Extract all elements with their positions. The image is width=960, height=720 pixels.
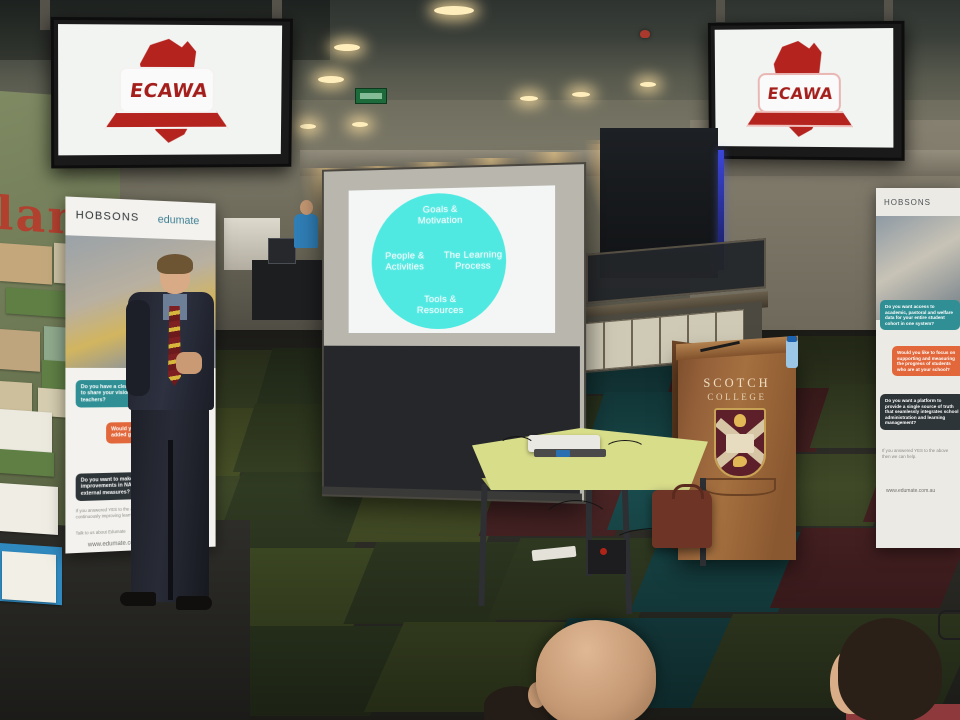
- laptop-screen-shape: ECAWA: [758, 73, 841, 113]
- crest-lion-icon: [734, 414, 746, 427]
- cable: [604, 440, 646, 460]
- conference-room-photo: lan ECAWA: [0, 0, 960, 720]
- fire-sprinkler-icon: [640, 30, 650, 38]
- equipment-box: [588, 540, 626, 574]
- ecawa-logo-left: ECAWA: [58, 24, 282, 155]
- tv-mount-left: [40, 0, 50, 30]
- slide-label-line1: Goals &: [423, 204, 458, 216]
- board-poster: [6, 287, 68, 317]
- speaker-hair: [157, 254, 193, 274]
- background-person-body: [294, 214, 318, 248]
- ceiling-downlight: [520, 96, 538, 101]
- ceiling-downlight: [572, 92, 590, 97]
- board-poster: [0, 243, 52, 285]
- ceiling-downlight: [318, 76, 344, 83]
- slide-label-line1: Tools &: [424, 294, 456, 305]
- crest-book-icon: [726, 434, 754, 453]
- ecawa-wordmark: ECAWA: [128, 80, 209, 102]
- board-poster: [0, 329, 40, 372]
- laptop-base-shape: [105, 111, 229, 129]
- draped-table: [252, 260, 326, 320]
- briefcase-handle: [672, 484, 704, 499]
- speaker-shoe: [120, 592, 156, 606]
- glasses-icon: [938, 610, 960, 640]
- slide-label-line2: Activities: [386, 261, 425, 272]
- tv-left-screen: ECAWA: [58, 24, 282, 155]
- tv-right: ECAWA: [708, 21, 905, 161]
- school-crest: [714, 408, 766, 478]
- banner-fine-print-right: If you answered YES to the above then we…: [882, 448, 954, 460]
- board-poster: [2, 551, 56, 603]
- projector-connector-panel: [534, 449, 606, 457]
- slide-label-line1: People &: [385, 250, 424, 261]
- board-poster: [0, 449, 54, 477]
- tv-right-screen: ECAWA: [715, 28, 894, 148]
- cabinet-door[interactable]: [632, 317, 660, 367]
- laptop-base-shape: [746, 111, 853, 127]
- audience-head-right: [838, 618, 942, 720]
- slide-label-line2: Motivation: [418, 215, 463, 227]
- laptop: [268, 238, 296, 264]
- ceiling-downlight: [352, 122, 368, 127]
- edumate-logo-left: edumate: [158, 214, 199, 228]
- banner-url-right: www.edumate.com.au: [886, 488, 956, 494]
- ceiling-downlight: [300, 124, 316, 129]
- slide-label-left: People & Activities: [378, 250, 433, 273]
- cable: [498, 436, 536, 460]
- banner-chip-dark: Do you want a platform to provide a sing…: [880, 394, 960, 430]
- banner-chip-orange: Would you like to focus on supporting an…: [892, 346, 960, 376]
- ceiling-downlight: [434, 6, 474, 15]
- slide-label-line2: Process: [455, 260, 491, 271]
- ecawa-wordmark: ECAWA: [766, 84, 834, 103]
- slide-area: Goals & Motivation People & Activities T…: [349, 185, 555, 333]
- background-person-head: [300, 200, 313, 215]
- power-led-icon: [600, 548, 607, 555]
- slide-label-right: The Learning Process: [442, 249, 504, 272]
- slide-label-bottom: Tools & Resources: [409, 294, 472, 316]
- speaker-arm: [126, 300, 150, 396]
- crest-ribbon: [704, 478, 776, 496]
- podium-subtitle: COLLEGE: [678, 392, 796, 402]
- slide-label-line2: Resources: [417, 305, 464, 316]
- banner-hobsons-edumate-right: HOBSONS Do you want access to academic, …: [876, 188, 960, 548]
- board-poster: [0, 483, 58, 535]
- laptop-screen-shape: ECAWA: [119, 67, 215, 113]
- speaker-hand: [176, 352, 202, 374]
- slide-label-line1: The Learning: [444, 249, 502, 261]
- vga-port: [556, 450, 570, 457]
- hobsons-logo-left: HOBSONS: [76, 209, 140, 224]
- banner-chip-teal: Do you want access to academic, pastoral…: [880, 300, 960, 330]
- ceiling-downlight: [334, 44, 360, 51]
- speaker-shoe: [176, 596, 212, 610]
- audience-head-center: [536, 620, 656, 720]
- speaker-leg-gap: [168, 440, 173, 600]
- water-bottle: [786, 340, 798, 368]
- exit-sign: [355, 88, 387, 104]
- podium-title: SCOTCH: [678, 376, 796, 391]
- hobsons-logo-right: HOBSONS: [884, 198, 931, 207]
- tv-mount-right: [716, 0, 725, 22]
- board-poster: [0, 409, 52, 455]
- crest-swan-icon: [733, 456, 747, 467]
- tv-left: ECAWA: [51, 17, 293, 169]
- ceiling-downlight: [640, 82, 656, 87]
- cabinet-door[interactable]: [604, 319, 632, 369]
- ecawa-logo-right: ECAWA: [715, 28, 894, 148]
- water-bottle-cap: [787, 336, 797, 342]
- speaker-tie-visible: [168, 306, 181, 386]
- slide-label-top: Goals & Motivation: [409, 204, 472, 227]
